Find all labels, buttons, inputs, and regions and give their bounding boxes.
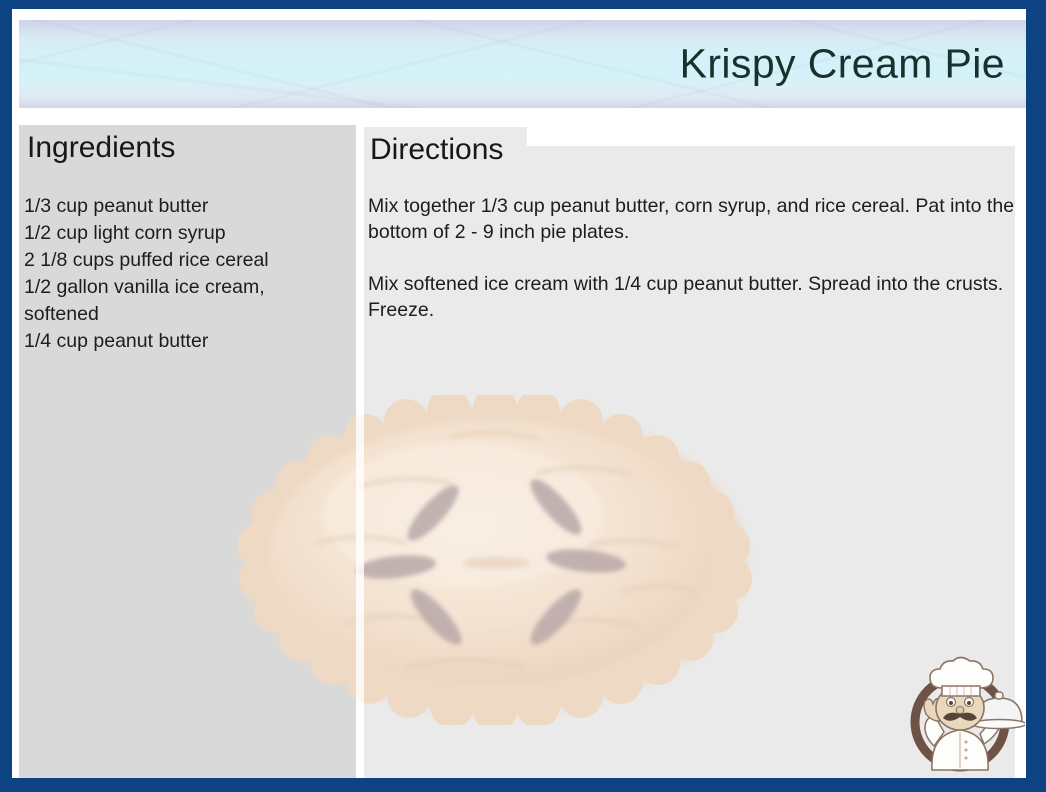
chef-logo (900, 650, 1025, 778)
ingredient-item: 1/2 cup light corn syrup (24, 220, 334, 247)
ingredient-item: 2 1/8 cups puffed rice cereal (24, 247, 334, 274)
frame-border-bottom (0, 778, 1046, 792)
frame-border-left (0, 0, 12, 792)
page-title: Krispy Cream Pie (680, 41, 1005, 88)
direction-step: Mix together 1/3 cup peanut butter, corn… (368, 193, 1016, 245)
ingredient-item: 1/3 cup peanut butter (24, 193, 334, 220)
chef-hat (930, 658, 993, 689)
frame-border-right (1026, 0, 1046, 792)
recipe-card: Krispy Cream Pie Ingredients 1/3 cup pea… (0, 0, 1046, 792)
direction-step: Mix softened ice cream with 1/4 cup pean… (368, 271, 1016, 323)
ingredient-item: 1/4 cup peanut butter (24, 328, 334, 355)
title-banner: Krispy Cream Pie (19, 20, 1027, 108)
directions-heading: Directions (370, 133, 503, 167)
ingredients-list: 1/3 cup peanut butter 1/2 cup light corn… (24, 193, 334, 355)
column-divider (356, 125, 364, 778)
ingredients-heading: Ingredients (27, 131, 175, 165)
ingredient-item: 1/2 gallon vanilla ice cream, softened (24, 274, 334, 328)
chef-hat-band (942, 686, 980, 696)
cloche-knob (995, 692, 1003, 699)
directions-body: Mix together 1/3 cup peanut butter, corn… (368, 193, 1016, 323)
frame-border-top (0, 0, 1046, 9)
